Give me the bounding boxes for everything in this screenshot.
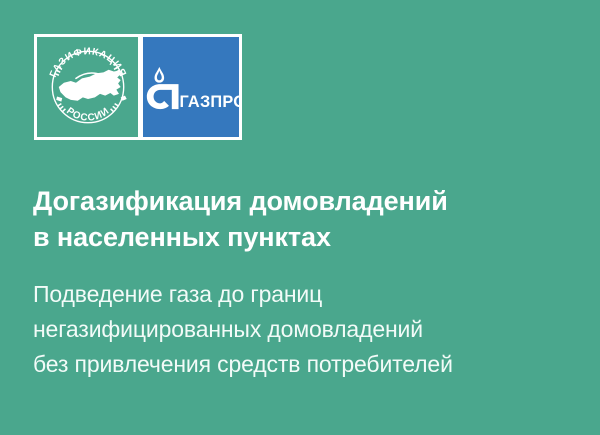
emblem-arc-bottom-text: РОССИИ [64,106,112,124]
gazprom-logo-icon: ГАЗПРОМ [143,63,239,111]
svg-text:ГАЗИФИКАЦИЯ: ГАЗИФИКАЦИЯ [47,46,127,79]
promo-banner: ГАЗИФИКАЦИЯ РОССИИ ГАЗПРОМ До [0,0,600,435]
gasification-of-russia-emblem-icon: ГАЗИФИКАЦИЯ РОССИИ [45,44,131,130]
gazprom-wordmark: ГАЗПРОМ [179,93,239,111]
svg-text:РОССИИ: РОССИИ [64,106,112,124]
gazprom-flame-icon [155,67,165,83]
gasification-of-russia-logo-panel: ГАЗИФИКАЦИЯ РОССИИ [37,37,138,137]
page-subtitle: Подведение газа до границ негазифицирова… [33,277,585,382]
gazprom-logo-panel: ГАЗПРОМ [143,37,239,137]
page-title: Догазификация домовладений в населенных … [33,183,573,255]
logo-block: ГАЗИФИКАЦИЯ РОССИИ ГАЗПРОМ [34,34,242,140]
emblem-arc-top-text: ГАЗИФИКАЦИЯ [47,46,127,79]
